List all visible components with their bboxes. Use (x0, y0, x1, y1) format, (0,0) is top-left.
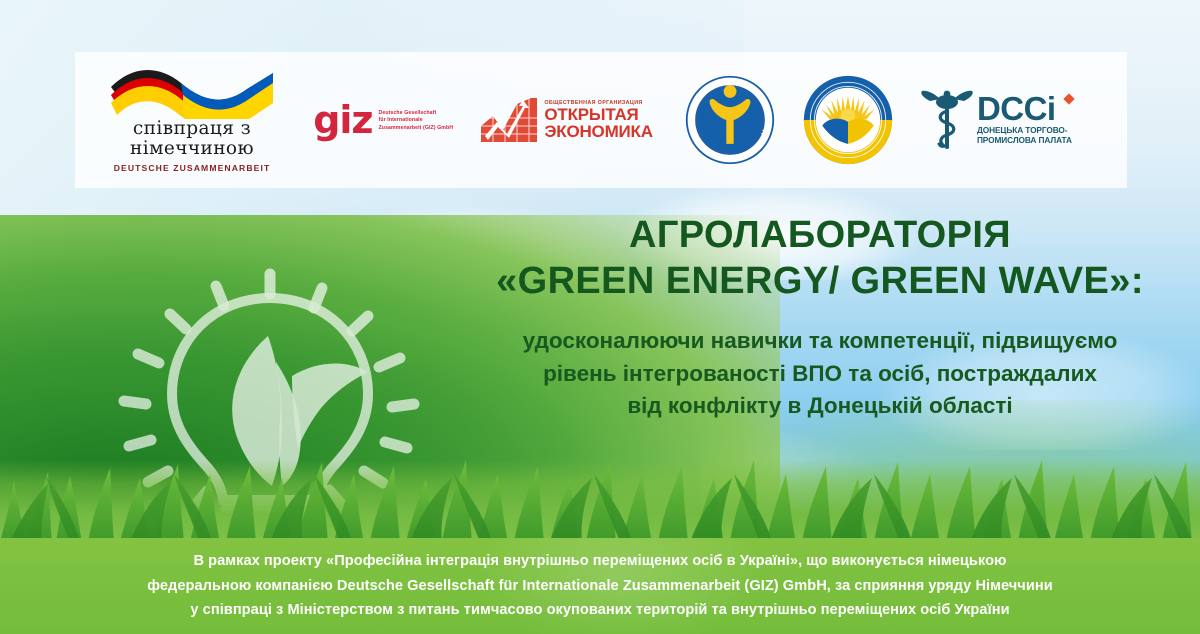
training-center-emblem-icon (802, 74, 894, 166)
giz-fullname: Deutsche Gesellschaft für Internationale… (379, 110, 454, 136)
footer-line-3: у співпраці з Міністерством з питань тим… (190, 599, 1009, 622)
partner-logo-bar: співпраця з німеччиною DEUTSCHE ZUSAMMEN… (75, 52, 1127, 188)
poster-subtitle-line1: удосконалюючи навички та компетенції, пі… (470, 325, 1170, 358)
logo-open-economy: ОБЩЕСТВЕННАЯ ОРГАНИЗАЦИЯ ОТКРЫТАЯ ЭКОНОМ… (479, 96, 657, 144)
headline-block: АГРОЛАБОРАТОРІЯ «GREEN ENERGY/ GREEN WAV… (470, 212, 1170, 423)
growth-chart-arrow-icon (479, 96, 539, 144)
employment-service-emblem-icon: СЛУЖБА ДЕРЖАВНА ЗАЙНЯТОСТІ (684, 74, 776, 166)
dcci-wordmark-text: DCCi (977, 90, 1056, 127)
footer-line-2: федеральною компанією Deutsche Gesellsch… (147, 575, 1053, 598)
german-ukrainian-flag-wave-icon (107, 67, 277, 119)
poster-subtitle-line2: рівень інтегрованості ВПО та осіб, постр… (470, 358, 1170, 391)
poster-subtitle-line3: від конфлікту в Донецькій області (470, 390, 1170, 423)
giz-fullname-line3: Zusammenarbeit (GIZ) GmbH (379, 125, 454, 133)
giz-wordmark: giz (313, 105, 372, 135)
poster-subtitle: удосконалюючи навички та компетенції, пі… (470, 325, 1170, 424)
german-cooperation-line1: співпраця з (133, 119, 251, 139)
grass-blades (0, 450, 1200, 542)
logo-state-employment-service: СЛУЖБА ДЕРЖАВНА ЗАЙНЯТОСТІ (684, 74, 776, 166)
caduceus-icon (920, 89, 974, 151)
dcci-diamond-dot-icon (1063, 94, 1074, 105)
dcci-text: DCCi ДОНЕЦЬКА ТОРГОВО- ПРОМИСЛОВА ПАЛАТА (977, 94, 1072, 145)
dcci-wordmark: DCCi (977, 94, 1072, 124)
logo-training-center (802, 74, 894, 166)
open-economy-text: ОБЩЕСТВЕННАЯ ОРГАНИЗАЦИЯ ОТКРЫТАЯ ЭКОНОМ… (544, 100, 652, 141)
logo-dcci: DCCi ДОНЕЦЬКА ТОРГОВО- ПРОМИСЛОВА ПАЛАТА (920, 89, 1105, 151)
dcci-fullname-line2: ПРОМИСЛОВА ПАЛАТА (977, 136, 1072, 146)
footer-disclaimer-bar: В рамках проекту «Професійна інтеграція … (0, 538, 1200, 634)
open-economy-line2: ЭКОНОМИКА (544, 123, 652, 140)
giz-fullname-line1: Deutsche Gesellschaft (379, 110, 454, 118)
poster-banner: співпраця з німеччиною DEUTSCHE ZUSAMMEN… (0, 0, 1200, 634)
open-economy-line1: ОТКРЫТАЯ (544, 106, 652, 123)
giz-fullname-line2: für Internationale (379, 117, 454, 125)
footer-line-1: В рамках проекту «Професійна інтеграція … (193, 550, 1006, 573)
poster-title: АГРОЛАБОРАТОРІЯ «GREEN ENERGY/ GREEN WAV… (470, 212, 1170, 305)
logo-german-cooperation: співпраця з німеччиною DEUTSCHE ZUSAMMEN… (97, 67, 287, 173)
german-cooperation-line2: німеччиною (130, 139, 254, 159)
logo-giz: giz Deutsche Gesellschaft für Internatio… (313, 105, 453, 135)
german-cooperation-line3: DEUTSCHE ZUSAMMENARBEIT (114, 163, 271, 173)
poster-title-line1: АГРОЛАБОРАТОРІЯ (629, 214, 1011, 256)
poster-title-line2: «GREEN ENERGY/ GREEN WAVE»: (470, 258, 1170, 304)
